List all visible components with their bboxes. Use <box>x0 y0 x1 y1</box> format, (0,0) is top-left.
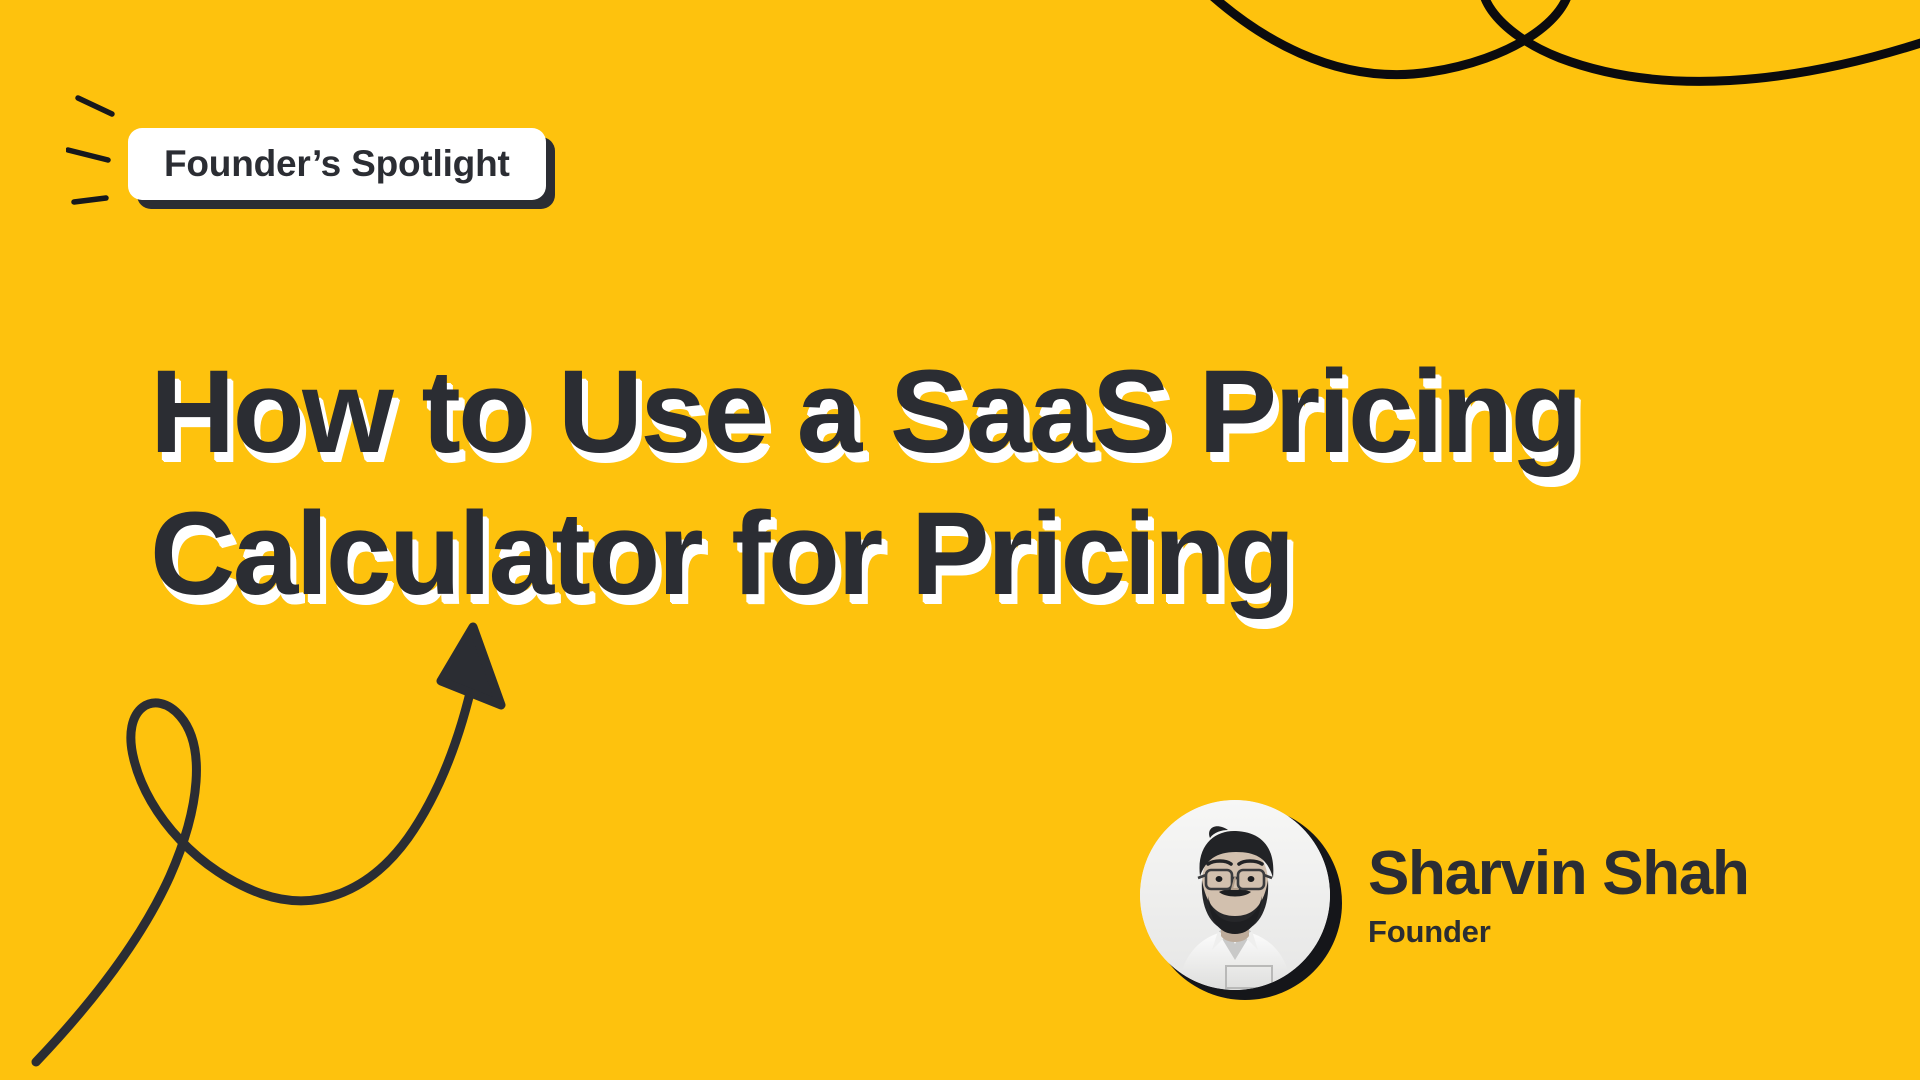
headline-line-1: How to Use a SaaS Pricing <box>150 352 1790 472</box>
avatar-portrait-photo <box>1140 800 1330 990</box>
author-name: Sharvin Shah <box>1368 841 1749 906</box>
looping-growth-arrow-icon <box>36 627 501 1062</box>
badge-container: Founder’s Spotlight <box>128 128 546 200</box>
author-role: Founder <box>1368 915 1749 949</box>
curved-squiggle-line-icon <box>1185 0 1920 81</box>
author-block: Sharvin Shah Founder <box>1140 800 1749 994</box>
page-title: How to Use a SaaS Pricing Calculator for… <box>150 352 1790 615</box>
avatar <box>1140 800 1334 994</box>
badge-label: Founder’s Spotlight <box>164 143 510 184</box>
slide-canvas: Founder’s Spotlight How to Use a SaaS Pr… <box>0 0 1920 1080</box>
author-text: Sharvin Shah Founder <box>1368 841 1749 952</box>
headline-line-2: Calculator for Pricing <box>150 494 1790 614</box>
founders-spotlight-badge[interactable]: Founder’s Spotlight <box>128 128 546 200</box>
